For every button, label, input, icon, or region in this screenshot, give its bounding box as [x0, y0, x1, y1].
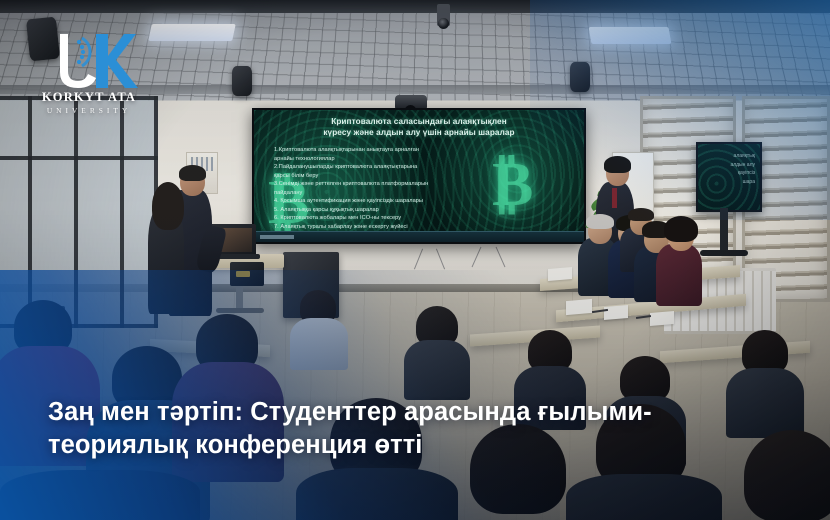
audience-body: [290, 318, 348, 370]
main-led-presentation-screen: ₿ ₿ Криптовалюта саласындағы алаяқтықлен…: [252, 108, 586, 244]
jury-member-body: [656, 244, 702, 306]
paper-sheet: [604, 305, 628, 320]
monitor-base: [700, 250, 748, 256]
assistant-hair: [152, 182, 184, 230]
led-panel-right: [589, 27, 672, 44]
paper-sheet: [566, 299, 592, 315]
logo-name-line2: UNIVERSITY: [30, 106, 148, 115]
caption-line-1: Заң мен тәртіп: Студенттер арасында ғылы…: [48, 396, 768, 429]
secondary-display: алаяқтық алдын алу қауіпсіз шара: [696, 142, 762, 212]
caption-overlay: Заң мен тәртіп: Студенттер арасында ғылы…: [48, 396, 768, 462]
slide-bullet-list: 1.Криптовалюта алаяқтықтарынан анықтауға…: [274, 146, 570, 240]
foreground-audience-body: [0, 470, 200, 520]
led-panel-left: [148, 24, 236, 41]
monitor-stand: [720, 208, 728, 252]
screen-status-bar: [254, 231, 584, 242]
audience-body: [404, 340, 470, 400]
news-photo: ₿ ₿ Криптовалюта саласындағы алаяқтықлен…: [0, 0, 830, 520]
logo-monogram-icon: [30, 32, 148, 94]
paper-sheet: [548, 267, 572, 281]
podium-foot: [216, 308, 264, 313]
presenter-hair: [179, 165, 206, 181]
glass-partition: [0, 96, 158, 328]
jury-member-hair: [664, 216, 698, 242]
foreground-audience-body: [566, 474, 722, 520]
foreground-audience-body: [296, 468, 458, 520]
jury-member-hair: [628, 208, 654, 221]
necktie: [612, 188, 617, 208]
slide-title: Криптовалюта саласындағы алаяқтықлен күр…: [262, 116, 576, 138]
ceiling-speaker-right: [570, 62, 590, 92]
jury-member-hair: [586, 214, 614, 229]
caption-line-2: теориялық конференция өтті: [48, 429, 768, 462]
standing-student-hair: [604, 156, 631, 173]
av-control-box: [230, 262, 264, 286]
ceiling-speaker-center: [232, 66, 252, 96]
logo-name-line1: KORKYT ATA: [30, 90, 148, 105]
korkyt-ata-university-logo[interactable]: KORKYT ATA UNIVERSITY: [30, 32, 148, 118]
paper-sheet: [650, 311, 674, 326]
ceiling-edge-beam: [0, 0, 830, 13]
ceiling-camera-icon: [437, 4, 450, 26]
